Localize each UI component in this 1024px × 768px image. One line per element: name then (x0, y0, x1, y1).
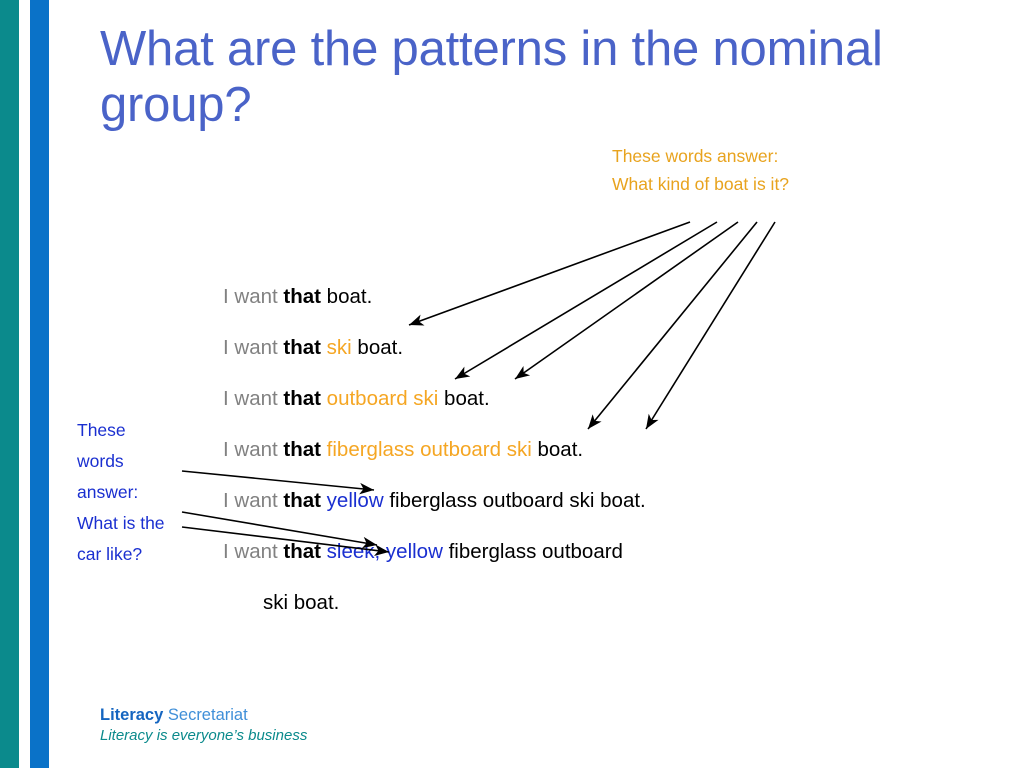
decor-bar-blue (30, 0, 49, 768)
sentence-6: I want that sleek, yellow fiberglass out… (223, 536, 923, 587)
sentence-token-gray: I want (223, 285, 283, 308)
sentence-token-gray: I want (223, 387, 283, 410)
sentence-token-that: that (283, 387, 321, 410)
sentence-list: I want that boat.I want that ski boat.I … (223, 281, 923, 619)
footer: Literacy Secretariat Literacy is everyon… (100, 705, 307, 746)
footer-tagline: Literacy is everyone’s business (100, 726, 307, 746)
sentence-token-gray: I want (223, 489, 283, 512)
sentence-token-that: that (283, 489, 321, 512)
sentence-token-black: boat. (352, 336, 403, 359)
sentence-2: I want that ski boat. (223, 332, 923, 383)
slide-canvas: What are the patterns in the nominal gro… (0, 0, 1024, 768)
sentence-token-that: that (283, 438, 321, 461)
sentence-4: I want that fiberglass outboard ski boat… (223, 434, 923, 485)
callout-orange-line1: These words answer: (612, 142, 942, 170)
decor-bar-teal (0, 0, 19, 768)
sentence-token-orange: ski (327, 336, 352, 359)
sentence-token-black: fiberglass outboard ski boat. (384, 489, 646, 512)
sentence-1: I want that boat. (223, 281, 923, 332)
sentence-6-continued: ski boat. (223, 587, 923, 619)
callout-orange-line2: What kind of boat is it? (612, 170, 942, 198)
sentence-token-blue: yellow (327, 489, 384, 512)
sentence-token-black: boat. (532, 438, 583, 461)
sentence-token-blue: sleek, yellow (327, 540, 443, 563)
footer-brand: Literacy Secretariat (100, 705, 307, 726)
sentence-token-orange: outboard ski (327, 387, 439, 410)
sentence-token-black: fiberglass outboard (443, 540, 623, 563)
page-title: What are the patterns in the nominal gro… (100, 22, 900, 134)
sentence-token-that: that (283, 336, 321, 359)
sentence-token-orange: fiberglass outboard ski (327, 438, 532, 461)
callout-orange: These words answer: What kind of boat is… (612, 142, 942, 199)
sentence-3: I want that outboard ski boat. (223, 383, 923, 434)
sentence-token-gray: I want (223, 438, 283, 461)
sentence-5: I want that yellow fiberglass outboard s… (223, 485, 923, 536)
sentence-token-black: boat. (321, 285, 372, 308)
footer-brand-rest: Secretariat (163, 706, 247, 724)
sentence-token-black: boat. (438, 387, 489, 410)
sentence-token-that: that (283, 285, 321, 308)
sentence-token-black: ski boat. (263, 591, 339, 614)
footer-brand-bold: Literacy (100, 706, 163, 724)
sentence-token-gray: I want (223, 336, 283, 359)
sentence-token-gray: I want (223, 540, 283, 563)
sentence-token-that: that (283, 540, 321, 563)
callout-blue: These words answer: What is the car like… (77, 415, 175, 570)
